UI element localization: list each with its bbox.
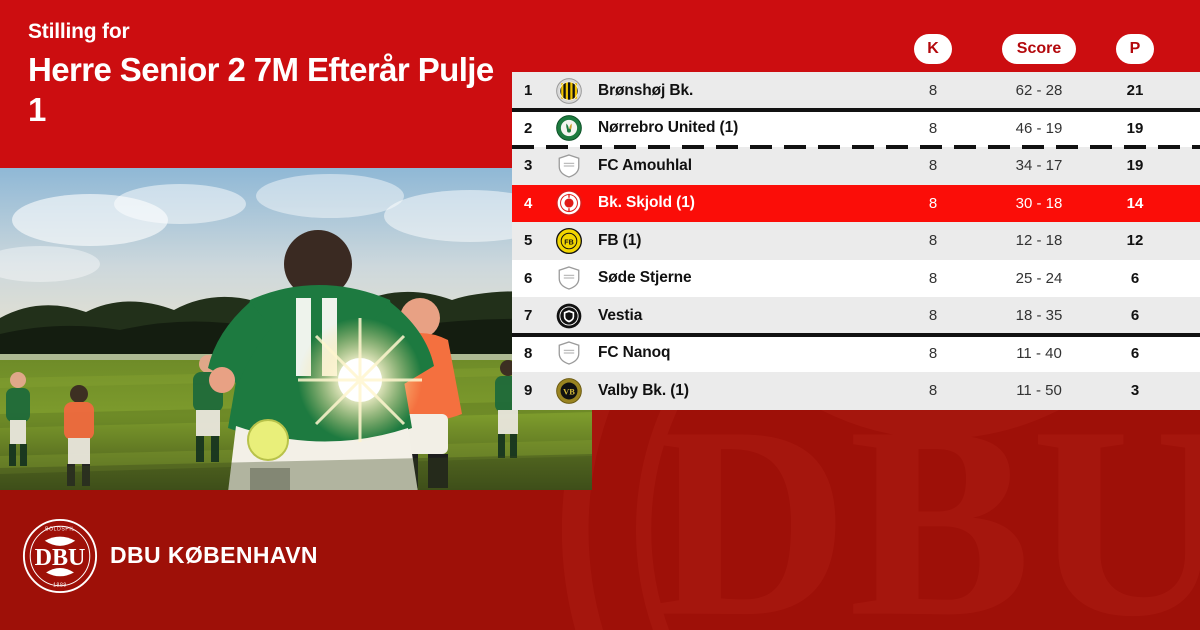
row-team-name: Vestia xyxy=(588,307,1200,325)
row-team-name: FC Amouhlal xyxy=(588,157,1200,175)
table-row[interactable]: 5 FB FB (1) 8 12 - 18 12 xyxy=(512,222,1200,260)
bronshoj-crest-icon xyxy=(550,78,588,104)
row-team-name: Bk. Skjold (1) xyxy=(588,194,1200,212)
row-rank: 6 xyxy=(512,270,550,287)
placeholder-crest-icon xyxy=(550,265,588,291)
table-row[interactable]: 7 Vestia 8 18 - 35 6 xyxy=(512,297,1200,335)
row-rank: 7 xyxy=(512,307,550,324)
row-played: 8 xyxy=(914,120,952,137)
row-points: 6 xyxy=(1116,345,1154,362)
row-played: 8 xyxy=(914,270,952,287)
row-team-name: Brønshøj Bk. xyxy=(588,82,1200,100)
row-rank: 5 xyxy=(512,232,550,249)
row-points: 6 xyxy=(1116,270,1154,287)
column-header-points: P xyxy=(1116,34,1154,64)
table-body: 1 Brønshøj Bk. 8 xyxy=(512,72,1200,410)
row-rank: 1 xyxy=(512,82,550,99)
table-row[interactable]: 2 Nørrebro United (1) 8 46 - 19 19 xyxy=(512,110,1200,148)
svg-text:VB: VB xyxy=(563,386,575,396)
row-points: 14 xyxy=(1116,195,1154,212)
row-score: 11 - 50 xyxy=(1002,382,1076,399)
table-row-highlighted[interactable]: 4 Bk. Skjold (1) 8 30 - 18 14 xyxy=(512,185,1200,223)
footer-organisation: DBU KØBENHAVN xyxy=(110,542,318,569)
row-team-name: FB (1) xyxy=(588,232,1200,250)
table-row[interactable]: 9 VB Valby Bk. (1) 8 11 - 50 3 xyxy=(512,372,1200,410)
row-points: 21 xyxy=(1116,82,1154,99)
row-played: 8 xyxy=(914,345,952,362)
row-score: 11 - 40 xyxy=(1002,345,1076,362)
placeholder-crest-icon xyxy=(550,340,588,366)
row-score: 12 - 18 xyxy=(1002,232,1076,249)
valby-crest-icon: VB xyxy=(550,378,588,404)
row-points: 19 xyxy=(1116,120,1154,137)
svg-text:BOLDSPIL: BOLDSPIL xyxy=(45,527,75,533)
row-played: 8 xyxy=(914,382,952,399)
row-team-name: FC Nanoq xyxy=(588,344,1200,362)
vestia-crest-icon xyxy=(550,303,588,329)
header-kicker: Stilling for xyxy=(28,20,129,44)
row-score: 46 - 19 xyxy=(1002,120,1076,137)
table-row[interactable]: 8 FC Nanoq 8 11 - 40 6 xyxy=(512,335,1200,373)
row-score: 34 - 17 xyxy=(1002,157,1076,174)
row-rank: 3 xyxy=(512,157,550,174)
row-score: 30 - 18 xyxy=(1002,195,1076,212)
row-team-name: Nørrebro United (1) xyxy=(588,119,1200,137)
table-row[interactable]: 3 FC Amouhlal 8 34 - 17 19 xyxy=(512,147,1200,185)
table-row[interactable]: 1 Brønshøj Bk. 8 xyxy=(512,72,1200,110)
row-team-name: Søde Stjerne xyxy=(588,269,1200,287)
row-score: 18 - 35 xyxy=(1002,307,1076,324)
row-played: 8 xyxy=(914,232,952,249)
standings-graphic: DBU Stilling for Herre Senior 2 7M Efter… xyxy=(0,0,1200,630)
row-played: 8 xyxy=(914,307,952,324)
row-rank: 9 xyxy=(512,382,550,399)
svg-text:DBU: DBU xyxy=(35,545,86,571)
table-row[interactable]: 6 Søde Stjerne 8 25 - 24 6 xyxy=(512,260,1200,298)
row-points: 19 xyxy=(1116,157,1154,174)
fb-crest-icon: FB xyxy=(550,228,588,254)
row-played: 8 xyxy=(914,82,952,99)
row-played: 8 xyxy=(914,195,952,212)
standings-table: K Score P 1 xyxy=(512,0,1200,410)
row-rank: 4 xyxy=(512,195,550,212)
row-score: 25 - 24 xyxy=(1002,270,1076,287)
svg-text:1889: 1889 xyxy=(53,582,67,588)
row-points: 12 xyxy=(1116,232,1154,249)
row-score: 62 - 28 xyxy=(1002,82,1076,99)
column-header-score: Score xyxy=(1002,34,1076,64)
placeholder-crest-icon xyxy=(550,153,588,179)
row-played: 8 xyxy=(914,157,952,174)
row-team-name: Valby Bk. (1) xyxy=(588,382,1200,400)
row-rank: 2 xyxy=(512,120,550,137)
footer: DBU BOLDSPIL 1889 DBU KØBENHAVN xyxy=(0,490,1200,630)
row-points: 6 xyxy=(1116,307,1154,324)
hero-photo xyxy=(0,168,592,490)
page-title: Herre Senior 2 7M Efterår Pulje 1 xyxy=(28,50,498,130)
dbu-logo-icon: DBU BOLDSPIL 1889 xyxy=(22,518,98,594)
row-points: 3 xyxy=(1116,382,1154,399)
svg-text:FB: FB xyxy=(564,238,574,246)
norrebro-crest-icon xyxy=(550,115,588,141)
table-header-row: K Score P xyxy=(512,0,1200,72)
column-header-played: K xyxy=(914,34,952,64)
skjold-crest-icon xyxy=(550,190,588,216)
row-rank: 8 xyxy=(512,345,550,362)
